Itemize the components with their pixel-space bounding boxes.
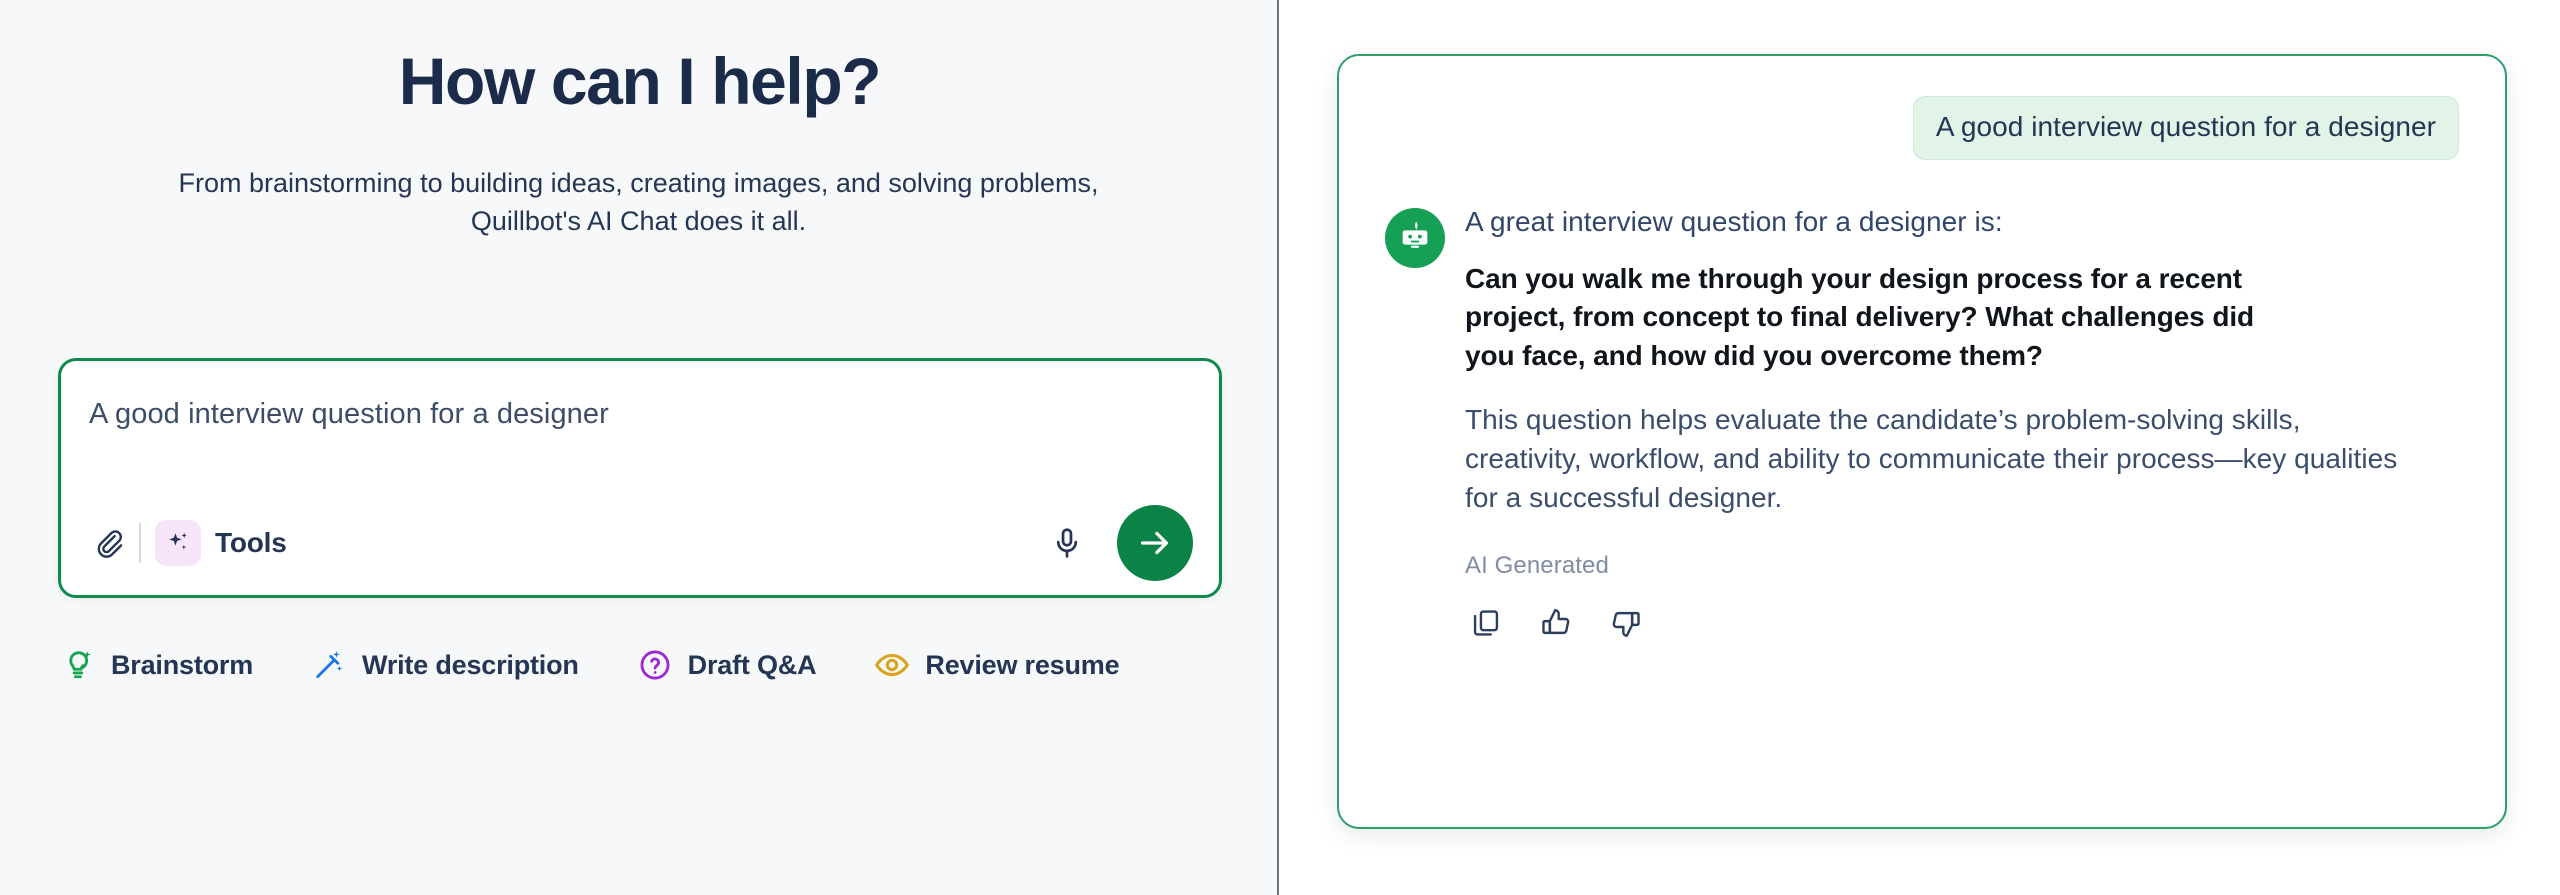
tools-label: Tools — [215, 527, 287, 559]
copy-icon[interactable] — [1465, 602, 1507, 644]
assistant-message-body: A great interview question for a designe… — [1465, 204, 2459, 644]
quick-action-write-description[interactable]: Write description — [309, 645, 579, 685]
lightbulb-sparkle-icon — [58, 645, 98, 685]
question-circle-icon — [635, 645, 675, 685]
ai-generated-label: AI Generated — [1465, 552, 2459, 580]
user-message-row: A good interview question for a designer — [1385, 96, 2459, 160]
microphone-icon[interactable] — [1043, 519, 1091, 567]
page-subtitle: From brainstorming to building ideas, cr… — [134, 164, 1144, 241]
composer-toolbar: Tools — [61, 491, 1219, 595]
page-title: How can I help? — [0, 44, 1279, 120]
quick-action-label: Write description — [362, 650, 579, 681]
assistant-question-text: Can you walk me through your design proc… — [1465, 260, 2255, 375]
tools-button[interactable]: Tools — [155, 520, 287, 566]
chat-conversation-card: A good interview question for a designer… — [1337, 54, 2507, 829]
assistant-message-row: A great interview question for a designe… — [1385, 204, 2459, 644]
assistant-explanation-text: This question helps evaluate the candida… — [1465, 401, 2425, 518]
quick-action-review-resume[interactable]: Review resume — [872, 645, 1119, 685]
toolbar-divider — [139, 523, 141, 563]
paperclip-icon[interactable] — [87, 521, 131, 565]
quick-action-label: Review resume — [925, 650, 1119, 681]
thumbs-up-icon[interactable] — [1535, 602, 1577, 644]
thumbs-down-icon[interactable] — [1605, 602, 1647, 644]
magic-wand-icon — [309, 645, 349, 685]
send-button[interactable] — [1117, 505, 1193, 581]
arrow-right-icon — [1136, 524, 1174, 562]
chat-composer[interactable]: A good interview question for a designer — [58, 358, 1222, 598]
robot-avatar-icon — [1385, 208, 1445, 268]
quick-actions-row: Brainstorm Write description — [58, 645, 1119, 685]
composer-input[interactable]: A good interview question for a designer — [89, 398, 609, 431]
right-panel: A good interview question for a designer… — [1279, 0, 2560, 895]
quick-action-brainstorm[interactable]: Brainstorm — [58, 645, 253, 685]
quick-action-draft-qa[interactable]: Draft Q&A — [635, 645, 817, 685]
assistant-intro-text: A great interview question for a designe… — [1465, 206, 2459, 238]
sparkle-icon — [155, 520, 201, 566]
quick-action-label: Draft Q&A — [688, 650, 817, 681]
feedback-actions-row — [1465, 602, 2459, 644]
left-panel: How can I help? From brainstorming to bu… — [0, 0, 1279, 895]
user-message-bubble: A good interview question for a designer — [1913, 96, 2459, 160]
eye-icon — [872, 645, 912, 685]
quick-action-label: Brainstorm — [111, 650, 253, 681]
